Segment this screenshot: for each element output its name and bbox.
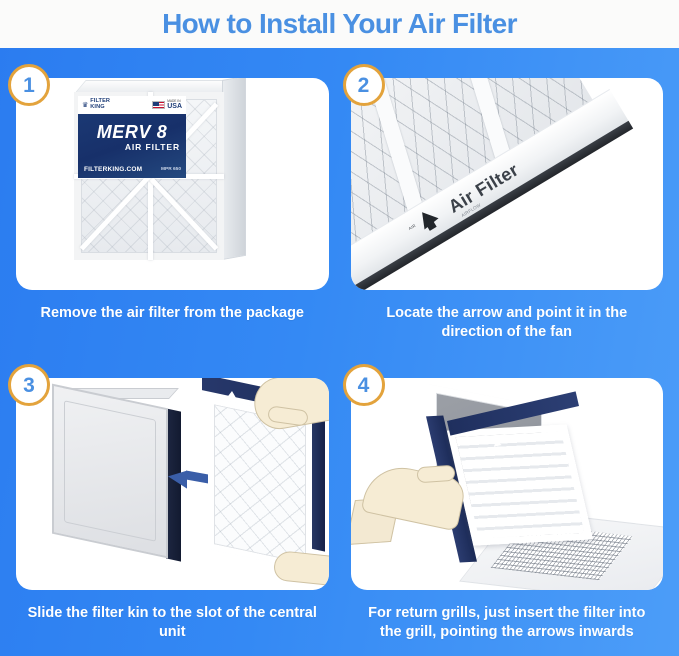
product-label-website: FILTERKING.COM xyxy=(84,166,142,173)
step-2-badge: 2 xyxy=(343,64,385,106)
step-3-caption: Slide the filter kin to the slot of the … xyxy=(16,604,329,642)
step-1: MERV 8 AIR FILTER FILTERKING.COM MPR 650… xyxy=(16,78,329,378)
crown-icon: ♛ xyxy=(82,102,88,109)
step-1-illustration: MERV 8 AIR FILTER FILTERKING.COM MPR 650… xyxy=(16,78,329,290)
step-2-caption: Locate the arrow and point it in the dir… xyxy=(351,304,664,342)
hand-lower xyxy=(273,550,329,588)
brand-name: FILTER KING xyxy=(90,99,110,111)
filter-corner-scene: AIR Air Filter AIRFLOW xyxy=(351,78,664,290)
made-in-usa-text: MADE IN USA xyxy=(167,100,182,110)
origin-country: USA xyxy=(167,103,182,110)
step-2-illustration: AIR Air Filter AIRFLOW xyxy=(351,78,664,290)
step-4-card: 4 xyxy=(351,378,664,590)
product-label-header: ♛ FILTER KING MADE IN USA xyxy=(78,96,186,114)
product-label-rating: MPR 650 xyxy=(161,167,181,172)
usa-flag-icon xyxy=(152,101,165,109)
product-label-title: MERV 8 xyxy=(78,122,186,143)
made-in-usa-mark: MADE IN USA xyxy=(152,100,182,110)
header-band: How to Install Your Air Filter xyxy=(0,0,679,48)
step-4: 4 For return grills, just insert the fil… xyxy=(351,378,664,656)
product-label-footer: FILTERKING.COM MPR 650 xyxy=(84,166,181,173)
filter-corner-frame: AIR Air Filter AIRFLOW xyxy=(351,78,650,290)
step-3: 3 Slide the filter kin to the slot of th… xyxy=(16,378,329,656)
step-4-badge: 4 xyxy=(343,364,385,406)
brand-line-2: KING xyxy=(90,104,104,110)
filter-side-edge xyxy=(222,78,246,260)
filter-airflow-arrow-icon xyxy=(228,390,236,398)
return-grill-louvers xyxy=(446,424,592,545)
step-1-card: MERV 8 AIR FILTER FILTERKING.COM MPR 650… xyxy=(16,78,329,290)
step-3-badge: 3 xyxy=(8,364,50,406)
step-2: AIR Air Filter AIRFLOW 2 Locate the arro… xyxy=(351,78,664,378)
steps-grid: MERV 8 AIR FILTER FILTERKING.COM MPR 650… xyxy=(0,48,679,656)
hand-thumb xyxy=(416,465,455,484)
step-4-caption: For return grills, just insert the filte… xyxy=(351,604,664,642)
infographic-root: How to Install Your Air Filter MERV 8 AI… xyxy=(0,0,679,656)
step-4-illustration xyxy=(351,378,664,590)
page-title: How to Install Your Air Filter xyxy=(162,10,517,38)
step-1-caption: Remove the air filter from the package xyxy=(16,304,329,323)
filter-king-logo: ♛ FILTER KING xyxy=(82,99,110,111)
step-2-card: AIR Air Filter AIRFLOW 2 xyxy=(351,78,664,290)
product-label-subtitle: AIR FILTER xyxy=(78,142,180,152)
step-1-badge: 1 xyxy=(8,64,50,106)
central-unit-inner-outline xyxy=(64,400,156,542)
step-3-card: 3 xyxy=(16,378,329,590)
step-3-illustration xyxy=(16,378,329,590)
